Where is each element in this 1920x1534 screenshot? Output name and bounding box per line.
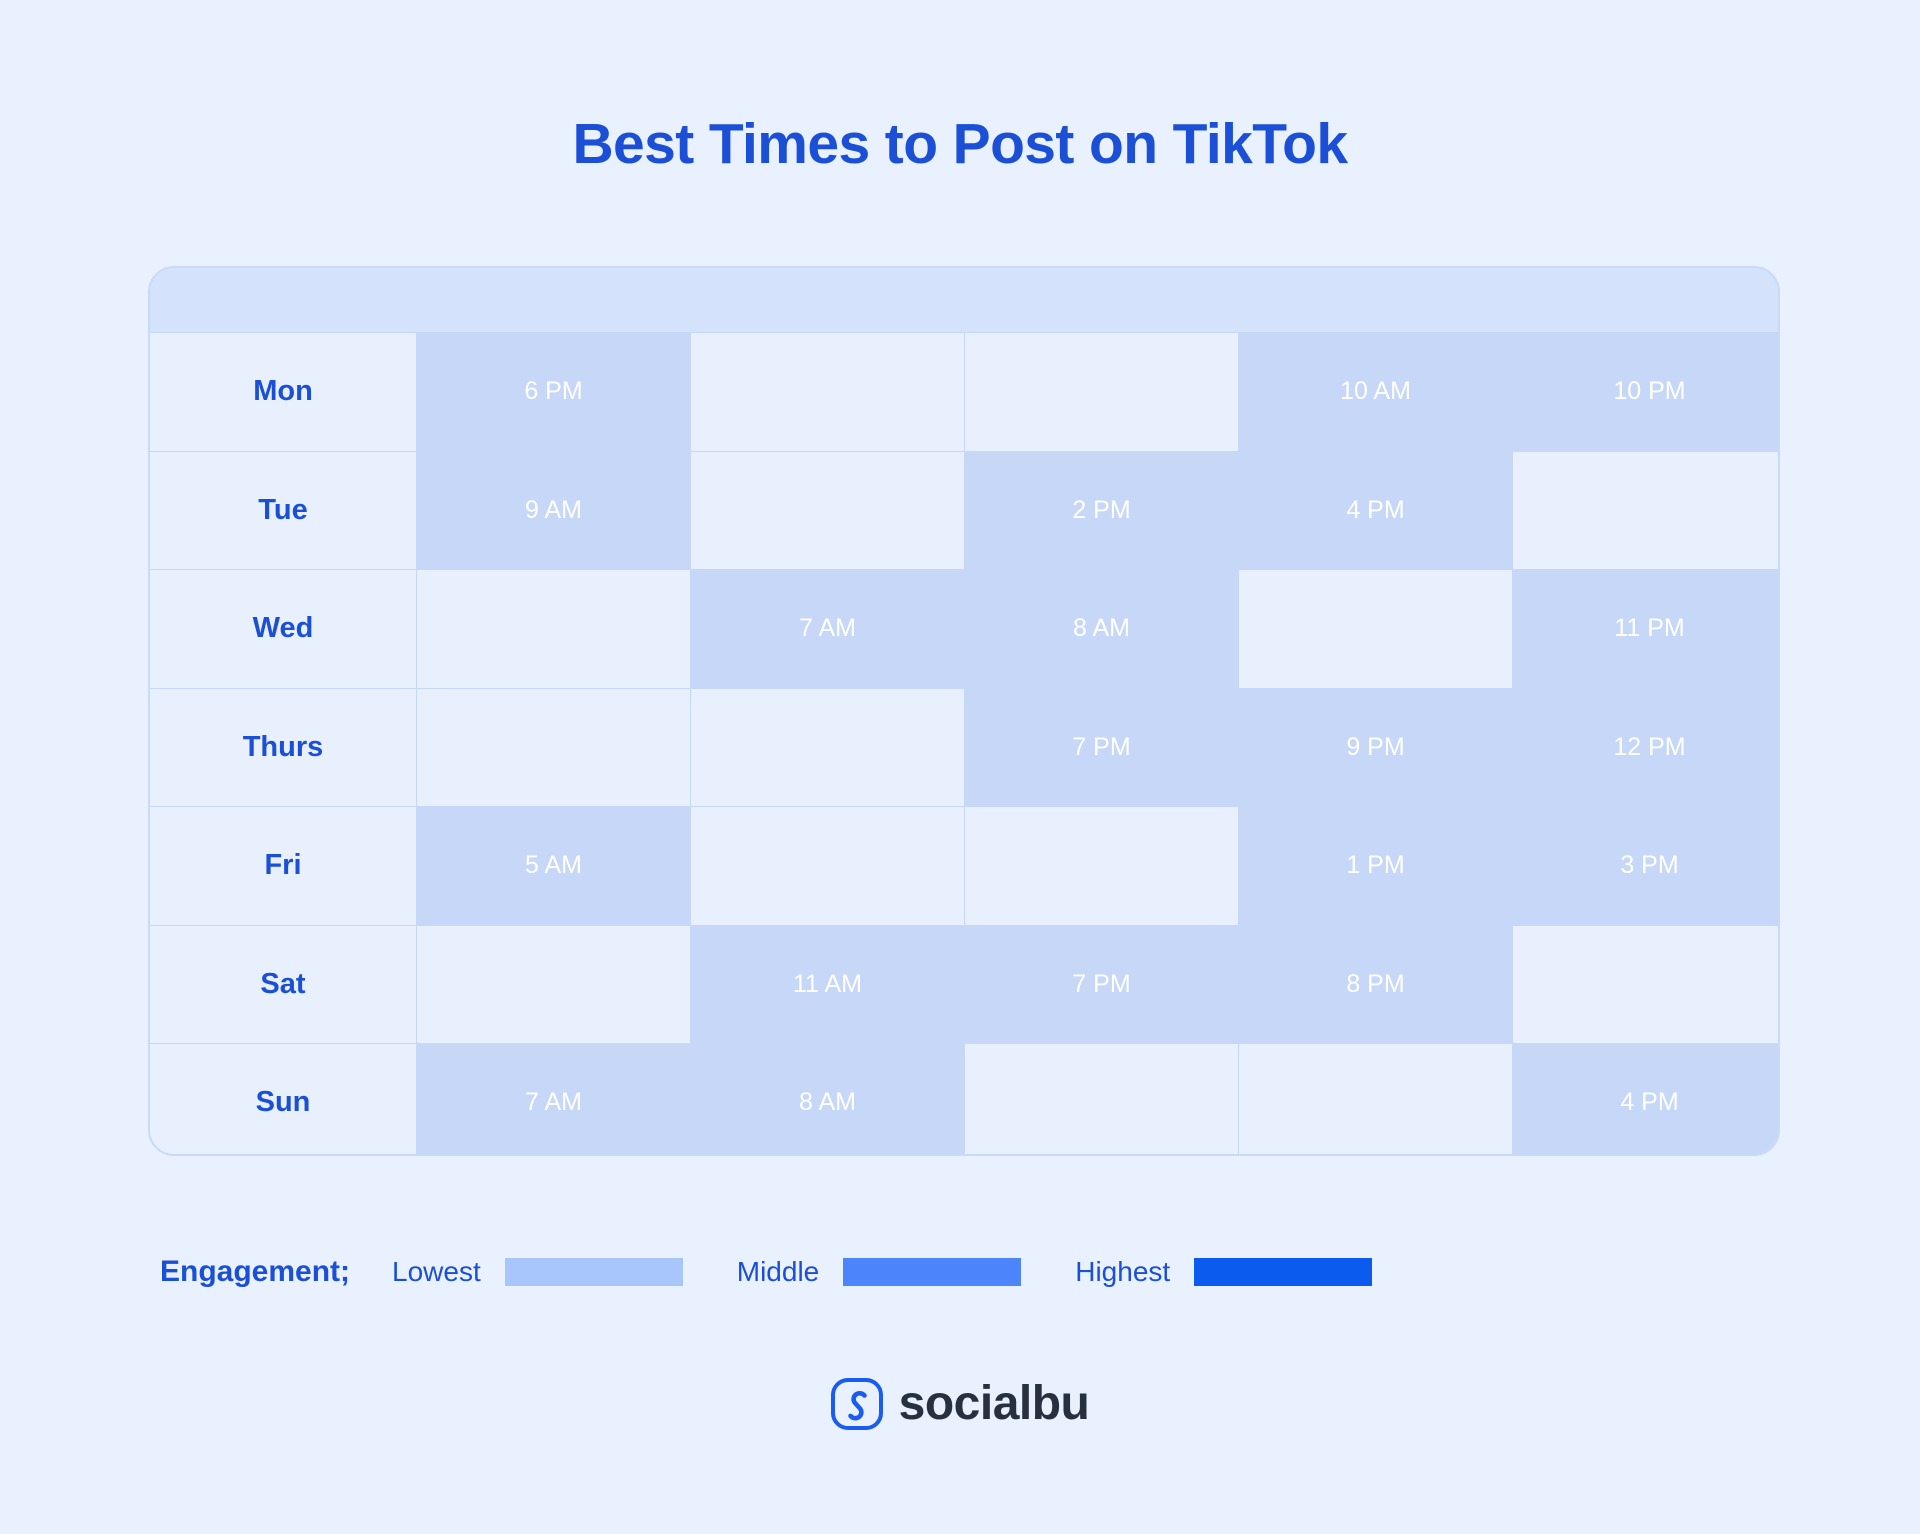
day-label-mon: Mon: [150, 333, 416, 451]
heatmap-cell[interactable]: 4 PM: [1239, 452, 1512, 570]
heatmap-cell[interactable]: 12 PM: [1513, 689, 1780, 807]
heatmap-cell[interactable]: [691, 452, 964, 570]
heatmap-cell[interactable]: 7 AM: [691, 570, 964, 688]
legend-item-highest: Highest: [1075, 1256, 1372, 1288]
heatmap-cell[interactable]: 8 AM: [965, 570, 1238, 688]
engagement-legend: Engagement; LowestMiddleHighest: [160, 1250, 1426, 1294]
heatmap-cell[interactable]: [417, 689, 690, 807]
legend-item-label: Highest: [1075, 1256, 1170, 1288]
day-label-sun: Sun: [150, 1044, 416, 1156]
heatmap-cell[interactable]: 7 AM: [417, 1044, 690, 1156]
heatmap-cell[interactable]: [1513, 926, 1780, 1044]
heatmap-cell[interactable]: 7 PM: [965, 926, 1238, 1044]
heatmap-cell[interactable]: 10 AM: [1239, 333, 1512, 451]
heatmap-cell[interactable]: [965, 1044, 1238, 1156]
heatmap-cell[interactable]: 2 PM: [965, 452, 1238, 570]
heatmap-cell[interactable]: [691, 333, 964, 451]
heatmap-cell[interactable]: [1513, 452, 1780, 570]
page-title: Best Times to Post on TikTok: [0, 38, 1920, 173]
day-label-sat: Sat: [150, 926, 416, 1044]
heatmap-cell[interactable]: 8 PM: [1239, 926, 1512, 1044]
legend-color-swatch: [505, 1258, 683, 1286]
heatmap-cell[interactable]: 1 PM: [1239, 807, 1512, 925]
legend-item-label: Lowest: [392, 1256, 481, 1288]
brand-logo: socialbu: [0, 1378, 1920, 1430]
heatmap-cell[interactable]: [965, 807, 1238, 925]
heatmap-cell[interactable]: 10 PM: [1513, 333, 1780, 451]
best-times-heatmap-card: Mon6 PM10 AM10 PMTue9 AM2 PM4 PMWed7 AM8…: [148, 266, 1780, 1156]
day-label-thurs: Thurs: [150, 689, 416, 807]
socialbu-s-mark-icon: [831, 1378, 883, 1430]
heatmap-header-bar: [150, 268, 1778, 332]
heatmap-cell[interactable]: [1239, 570, 1512, 688]
day-label-fri: Fri: [150, 807, 416, 925]
heatmap-cell[interactable]: [691, 689, 964, 807]
day-label-tue: Tue: [150, 452, 416, 570]
legend-color-swatch: [843, 1258, 1021, 1286]
legend-item-lowest: Lowest: [392, 1256, 683, 1288]
heatmap-cell[interactable]: 4 PM: [1513, 1044, 1780, 1156]
legend-color-swatch: [1194, 1258, 1372, 1286]
heatmap-grid: Mon6 PM10 AM10 PMTue9 AM2 PM4 PMWed7 AM8…: [150, 332, 1778, 1156]
heatmap-cell[interactable]: 5 AM: [417, 807, 690, 925]
heatmap-cell[interactable]: 9 AM: [417, 452, 690, 570]
heatmap-cell[interactable]: 11 PM: [1513, 570, 1780, 688]
legend-item-middle: Middle: [737, 1256, 1021, 1288]
heatmap-cell[interactable]: [965, 333, 1238, 451]
heatmap-cell[interactable]: 3 PM: [1513, 807, 1780, 925]
heatmap-cell[interactable]: 7 PM: [965, 689, 1238, 807]
heatmap-cell[interactable]: 6 PM: [417, 333, 690, 451]
infographic-page: Best Times to Post on TikTok Mon6 PM10 A…: [0, 38, 1920, 1534]
heatmap-cell[interactable]: [691, 807, 964, 925]
heatmap-cell[interactable]: [417, 570, 690, 688]
logo-wordmark: socialbu: [899, 1380, 1090, 1428]
legend-item-label: Middle: [737, 1256, 819, 1288]
heatmap-cell[interactable]: 8 AM: [691, 1044, 964, 1156]
heatmap-cell[interactable]: [1239, 1044, 1512, 1156]
day-label-wed: Wed: [150, 570, 416, 688]
heatmap-cell[interactable]: [417, 926, 690, 1044]
heatmap-cell[interactable]: 11 AM: [691, 926, 964, 1044]
heatmap-cell[interactable]: 9 PM: [1239, 689, 1512, 807]
legend-title: Engagement;: [160, 1255, 350, 1289]
